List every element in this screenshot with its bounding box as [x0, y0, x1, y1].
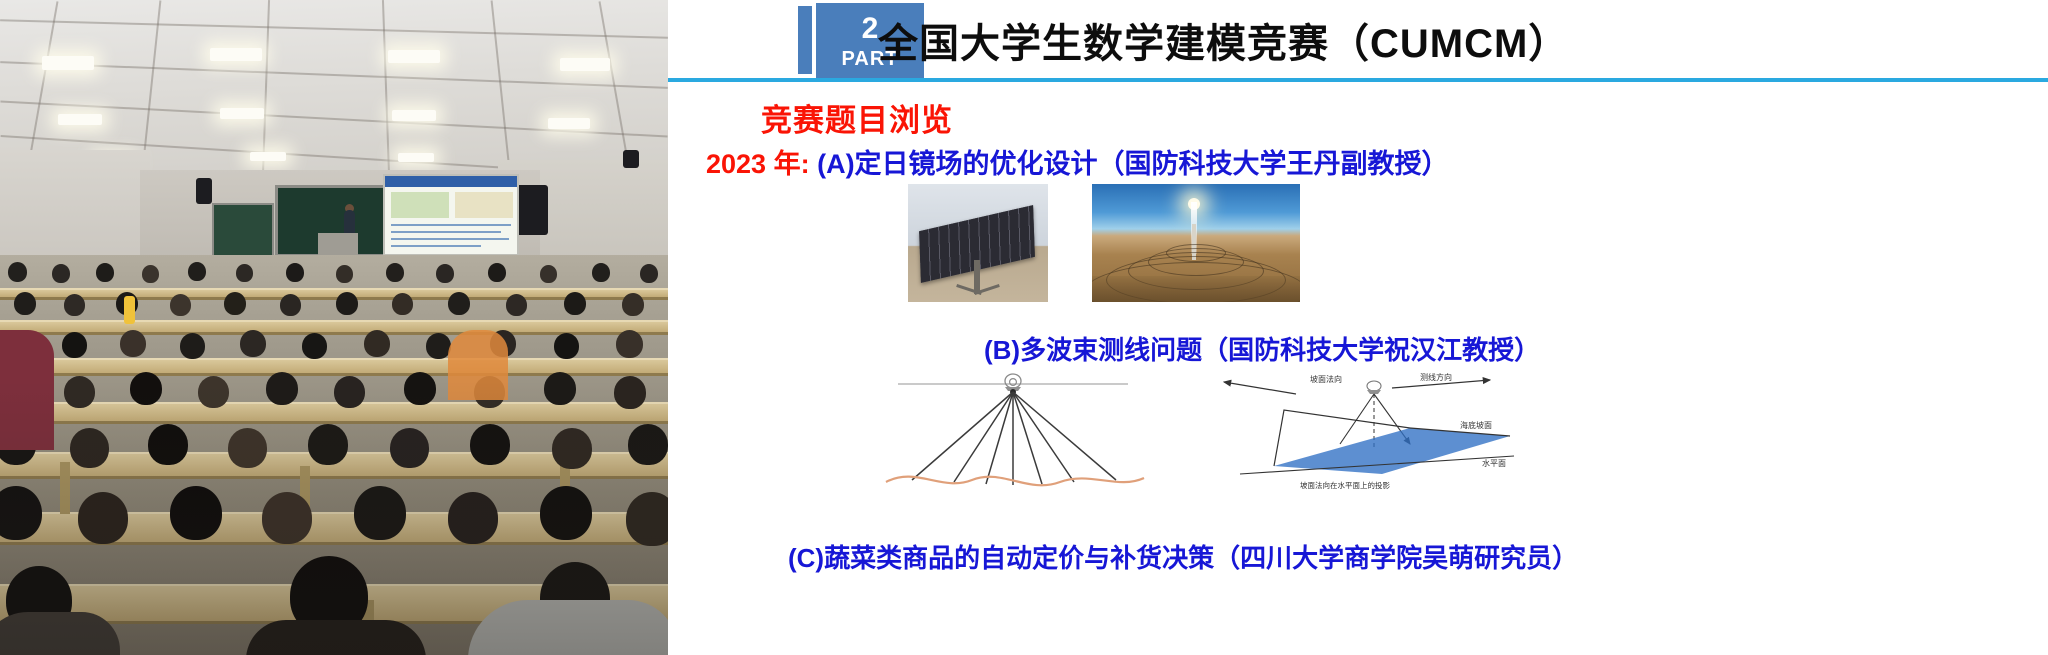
audience-head [336, 265, 353, 283]
audience-head [622, 293, 644, 316]
audience-head [554, 333, 579, 359]
year-label: 2023 年: [706, 149, 810, 179]
audience-head [564, 292, 586, 315]
ceiling-light [220, 108, 264, 119]
audience-head [488, 263, 506, 282]
ceiling-light [392, 110, 436, 121]
slide-body: 竞赛题目浏览 2023 年: (A)定日镜场的优化设计（国防科技大学王丹副教授） [668, 80, 2048, 653]
svg-text:坡面法向在水平面上的投影: 坡面法向在水平面上的投影 [1300, 480, 1390, 490]
audience-head [436, 264, 454, 283]
ceiling-light [210, 48, 262, 61]
multibeam-svg [868, 370, 1158, 490]
slide-text-line [391, 245, 481, 247]
audience-head [240, 330, 266, 357]
screenshot-root: 2 PART 全国大学生数学建模竞赛（CUMCM） 竞赛题目浏览 2023 年:… [0, 0, 2048, 655]
audience-head [364, 330, 390, 357]
audience-head [64, 294, 85, 316]
audience-head [506, 294, 527, 316]
svg-text:坡面法向: 坡面法向 [1310, 374, 1342, 384]
problem-c-text: (C)蔬菜类商品的自动定价与补货决策（四川大学商学院吴萌研究员） [788, 538, 1578, 575]
lecture-hall-photo [0, 0, 668, 655]
slide-text-line [391, 231, 501, 233]
audience-head [120, 330, 146, 357]
svg-text:海底坡面: 海底坡面 [1460, 420, 1492, 430]
audience-head [14, 292, 36, 315]
solar-tower-photo [1092, 184, 1300, 302]
audience-head [142, 265, 159, 283]
heliostat-photo [908, 184, 1048, 302]
audience-head [224, 292, 246, 315]
slide-text-line [391, 238, 509, 240]
audience-head [170, 294, 191, 316]
svg-text:水平面: 水平面 [1482, 458, 1506, 468]
foreground-shade [1092, 276, 1300, 302]
year-line: 2023 年: (A)定日镜场的优化设计（国防科技大学王丹副教授） [706, 142, 1449, 181]
audience-head [302, 333, 327, 359]
slide-block [391, 192, 449, 218]
problem-a-images [908, 184, 1300, 302]
audience-head [180, 333, 205, 359]
presentation-slide: 2 PART 全国大学生数学建模竞赛（CUMCM） 竞赛题目浏览 2023 年:… [668, 0, 2048, 655]
audience-head [640, 264, 658, 283]
ceiling-light [388, 50, 440, 63]
audience-head [236, 264, 253, 282]
ceiling-light [560, 58, 610, 71]
svg-text:测线方向: 测线方向 [1420, 372, 1452, 382]
problem-b-text: (B)多波束测线问题（国防科技大学祝汉江教授） [984, 330, 1540, 367]
ceiling-light [250, 152, 286, 161]
header-accent-tick [798, 6, 812, 74]
audience-head [592, 263, 610, 282]
photo-vignette [0, 380, 668, 655]
ceiling-light [398, 153, 434, 162]
projection-screen [383, 174, 519, 256]
audience-head [386, 263, 404, 282]
audience-head [336, 292, 358, 315]
audience-head [616, 330, 643, 358]
slide-header: 2 PART 全国大学生数学建模竞赛（CUMCM） [668, 0, 2048, 80]
problem-a-text: (A)定日镜场的优化设计（国防科技大学王丹副教授） [817, 149, 1448, 179]
audience-head [540, 265, 557, 283]
seabed-slope-diagram: 坡面法向 测线方向 海底坡面 水平面 坡面法向在水平面上的投影 [1214, 370, 1524, 490]
water-bottle [124, 296, 135, 324]
audience-head [448, 292, 470, 315]
multibeam-diagram [868, 370, 1158, 490]
audience-head [280, 294, 301, 316]
slide-header-bar [385, 176, 517, 187]
audience-head [392, 293, 413, 315]
ceiling-light [42, 56, 94, 70]
problem-b-images: 坡面法向 测线方向 海底坡面 水平面 坡面法向在水平面上的投影 [868, 370, 1524, 490]
ceiling-light [548, 118, 590, 129]
section-heading: 竞赛题目浏览 [761, 95, 953, 140]
audience-head [62, 332, 87, 358]
wall-speaker [623, 150, 639, 168]
page-title: 全国大学生数学建模竞赛（CUMCM） [878, 8, 1818, 72]
audience-head [286, 263, 304, 282]
audience-head [188, 262, 206, 281]
slide-block [455, 192, 513, 218]
slide-text-line [391, 224, 511, 226]
wall-speaker [196, 178, 212, 204]
ceiling-light [58, 114, 102, 125]
audience-head [52, 264, 70, 283]
audience-head [96, 263, 114, 282]
blackboard-side [212, 203, 274, 259]
terrain-svg: 坡面法向 测线方向 海底坡面 水平面 坡面法向在水平面上的投影 [1214, 370, 1524, 490]
audience-head [8, 262, 27, 282]
part-number: 2 [862, 14, 879, 44]
